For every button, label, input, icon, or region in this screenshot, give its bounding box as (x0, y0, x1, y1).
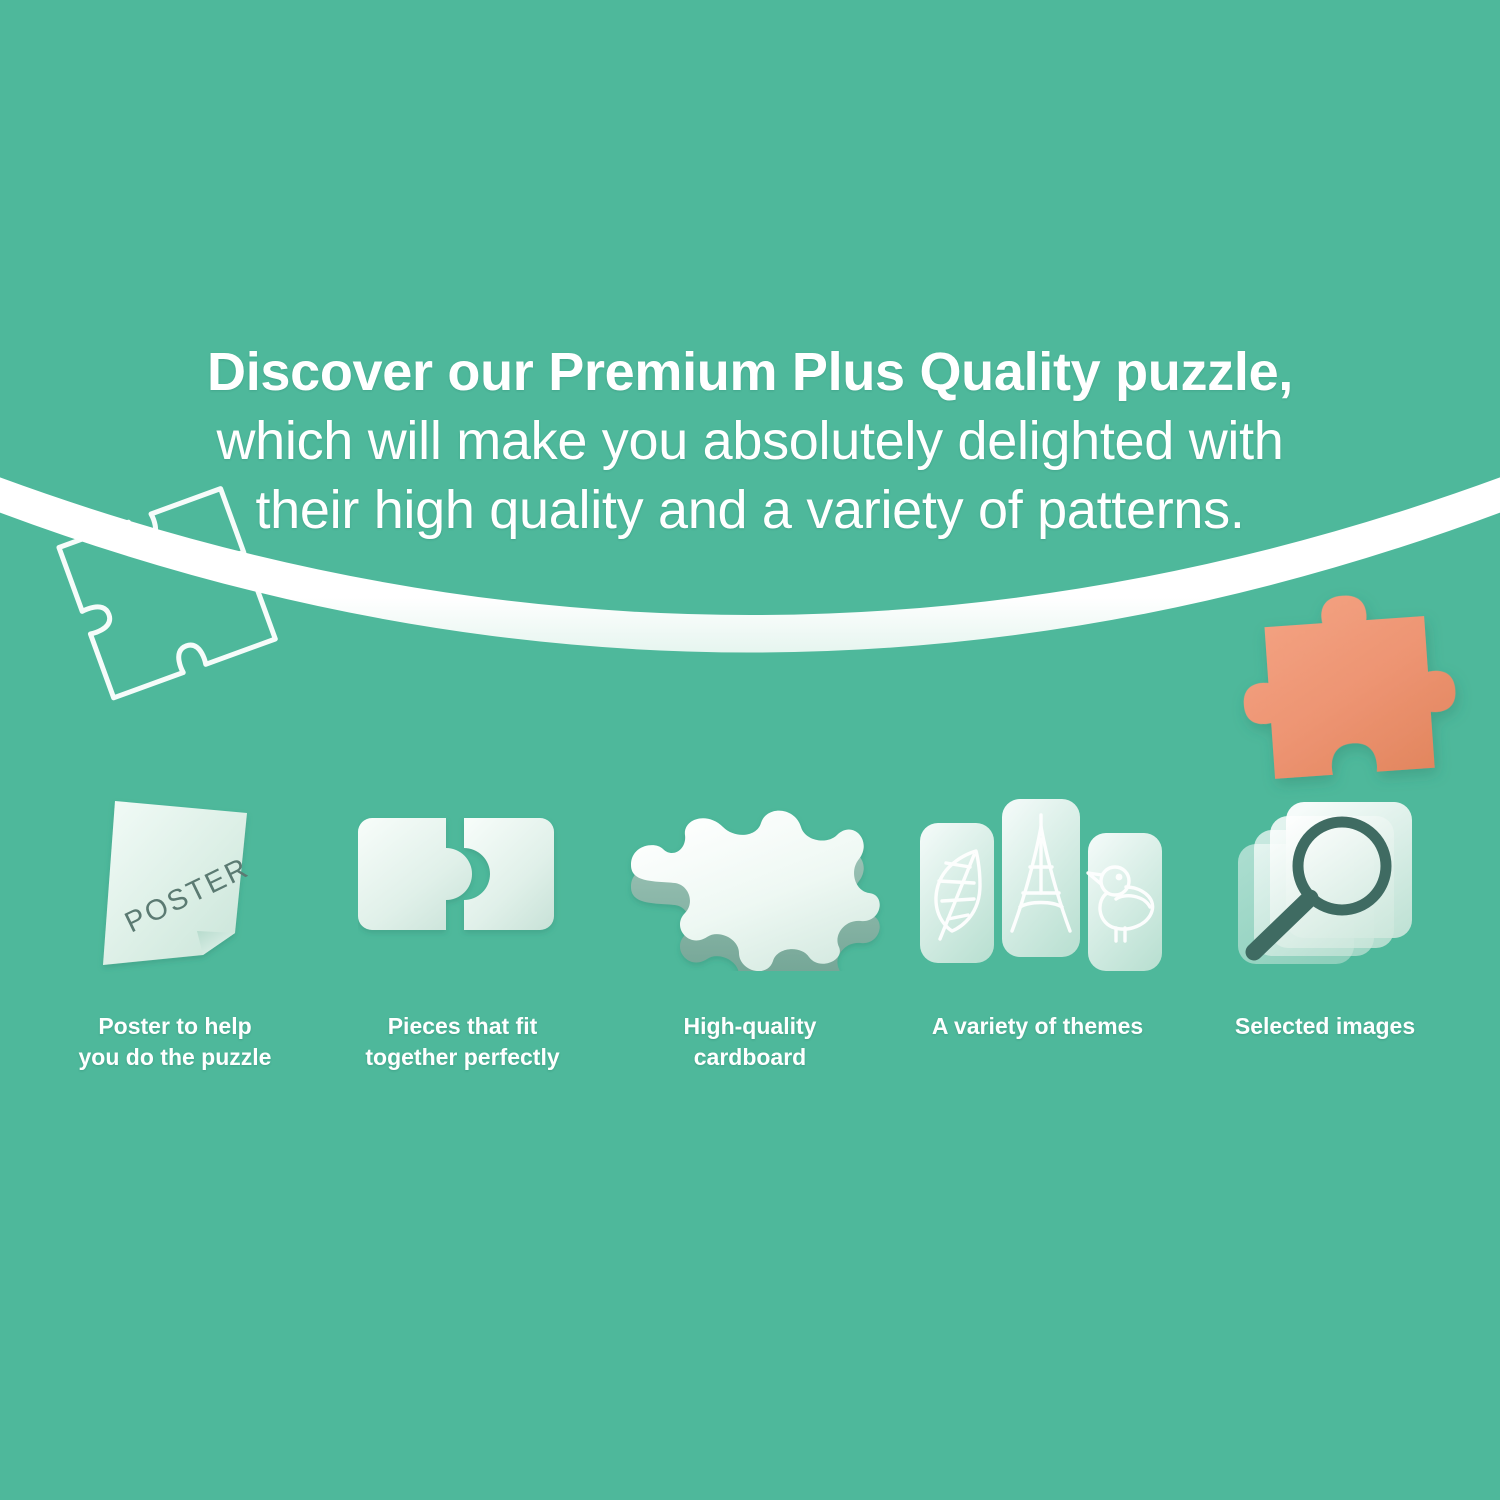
headline-line-2: which will make you absolutely delighted… (0, 407, 1500, 476)
feature-poster: POSTER Poster to help you do the puzzle (40, 778, 310, 1073)
theme-card-leaf (920, 823, 994, 963)
feature-themes-caption: A variety of themes (932, 1011, 1143, 1042)
theme-card-bird (1088, 833, 1162, 971)
feature-selected: Selected images (1190, 778, 1460, 1042)
feature-fit: Pieces that fit together perfectly (328, 778, 598, 1073)
stacked-cards-magnifier-icon (1190, 778, 1460, 993)
feature-selected-caption: Selected images (1235, 1011, 1415, 1042)
promo-banner: Discover our Premium Plus Quality puzzle… (0, 0, 1500, 1500)
theme-cards-icon (903, 778, 1173, 993)
poster-sheet-icon: POSTER (40, 778, 310, 993)
feature-poster-caption: Poster to help you do the puzzle (79, 1011, 272, 1073)
feature-themes: A variety of themes (903, 778, 1173, 1042)
headline-line-1: Discover our Premium Plus Quality puzzle… (0, 338, 1500, 407)
feature-cardboard: High-quality cardboard (615, 778, 885, 1073)
headline-line-3: their high quality and a variety of patt… (0, 476, 1500, 545)
feature-cardboard-caption: High-quality cardboard (684, 1011, 817, 1073)
feature-row: POSTER Poster to help you do the puzzle (0, 778, 1500, 1073)
arc-decoration-layer (0, 0, 1500, 1500)
headline-block: Discover our Premium Plus Quality puzzle… (0, 338, 1500, 545)
thick-3d-puzzle-piece-icon (615, 778, 885, 993)
feature-fit-caption: Pieces that fit together perfectly (365, 1011, 559, 1073)
orange-puzzle-piece (1237, 588, 1461, 780)
two-interlocking-pieces-icon (328, 778, 598, 993)
theme-card-eiffel (1002, 799, 1080, 957)
